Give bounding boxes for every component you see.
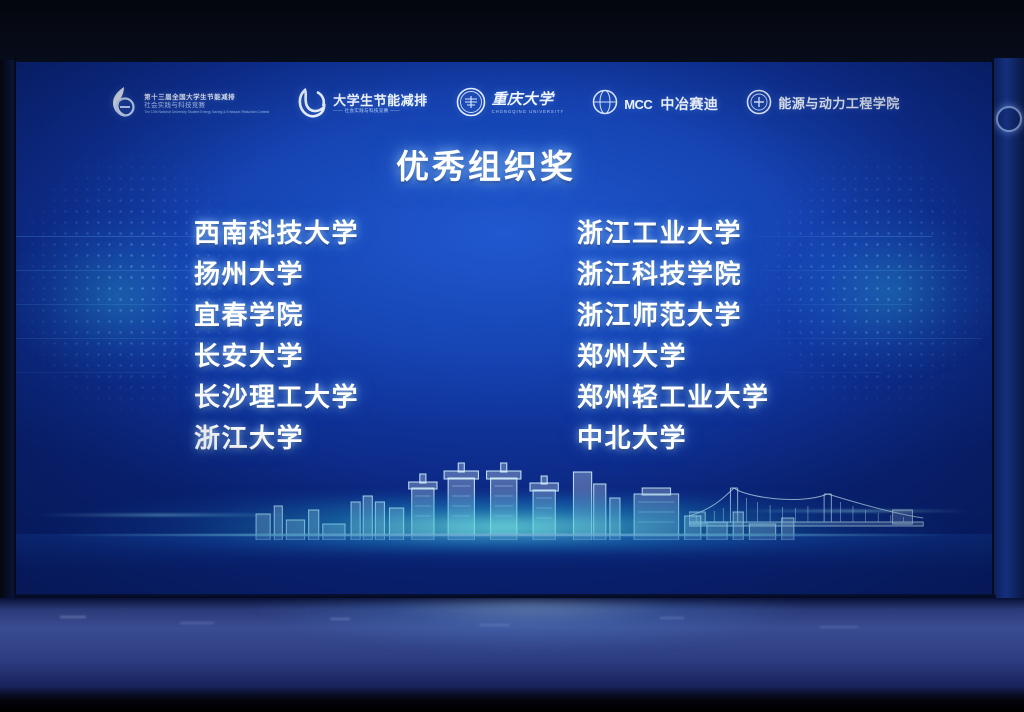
logo-competition-line2: 社会实践与科技竞赛: [144, 102, 269, 110]
award-title: 优秀组织奖: [16, 140, 992, 188]
logo-cisdi-line1: 中冶赛迪: [660, 97, 718, 112]
winners-column-left: 西南科技大学 扬州大学 宜春学院 长安大学 长沙理工大学 浙江大学: [194, 214, 359, 458]
winners-column-right: 浙江工业大学 浙江科技学院 浙江师范大学 郑州大学 郑州轻工业大学 中北大学: [577, 214, 770, 458]
stage-floor: [0, 598, 1024, 712]
winner-item: 郑州轻工业大学: [577, 378, 770, 417]
logo-chongqing-text: 重庆大学 CHONGQING UNIVERSITY: [492, 93, 565, 114]
winner-item: 中北大学: [577, 419, 770, 458]
logo-mcc-cisdi: MCC 中冶赛迪: [592, 84, 718, 124]
winner-item: 郑州大学: [577, 337, 770, 376]
flame-leaf-emblem-icon: [108, 85, 138, 124]
winner-item: 西南科技大学: [194, 214, 359, 253]
suspension-bridge-silhouette-icon: [689, 482, 923, 540]
floor-foreground-shadow: [0, 686, 1024, 712]
light-ray-left: [36, 514, 290, 516]
logo-chongqing-line2: CHONGQING UNIVERSITY: [492, 110, 565, 114]
logo-mcc-abbr: MCC: [624, 97, 652, 112]
logo-energy-power-line1: 能源与动力工程学院: [778, 97, 900, 111]
winner-item: 浙江工业大学: [577, 214, 770, 253]
logo-chongqing-university: 重庆大学 CHONGQING UNIVERSITY: [456, 84, 565, 124]
logo-energy-saving-text: 大学生节能减排 —— 社会实践与科技竞赛 ——: [333, 94, 428, 114]
led-video-wall: 第十三届全国大学生节能减排 社会实践与科技竞赛 The 13th Nationa…: [16, 62, 992, 598]
logo-energy-saving-line2: —— 社会实践与科技竞赛 ——: [333, 109, 428, 114]
winner-item: 浙江科技学院: [577, 255, 770, 294]
wall-light-circle-icon: [996, 106, 1022, 132]
school-seal-icon: [746, 89, 772, 120]
mcc-globe-icon: [592, 89, 618, 120]
swirl-ribbon-icon: [297, 86, 327, 123]
logo-cisdi-text: 中冶赛迪: [660, 97, 718, 112]
logo-competition-line1: 第十三届全国大学生节能减排: [144, 94, 269, 102]
winner-item: 浙江大学: [194, 419, 359, 458]
stage-screen-photo: 第十三届全国大学生节能减排 社会实践与科技竞赛 The 13th Nationa…: [0, 0, 1024, 712]
logo-energy-saving-line1: 大学生节能减排: [333, 94, 428, 108]
light-ray-right: [738, 510, 972, 512]
dark-ceiling-area: [0, 0, 1024, 66]
city-skyline-silhouette-icon: [250, 462, 816, 540]
horizon-light-line: [55, 534, 953, 536]
horizon-glow: [16, 494, 992, 550]
winners-list: 西南科技大学 扬州大学 宜春学院 长安大学 长沙理工大学 浙江大学 浙江工业大学…: [194, 214, 902, 458]
university-seal-icon: [456, 87, 486, 122]
winner-item: 浙江师范大学: [577, 296, 770, 335]
winner-item: 扬州大学: [194, 255, 359, 294]
right-wall-panel: [992, 58, 1024, 624]
logo-energy-power-school: 能源与动力工程学院: [746, 84, 900, 124]
logo-competition-line3: The 13th National University Student Ene…: [144, 110, 269, 115]
logo-energy-power-text: 能源与动力工程学院: [778, 97, 900, 111]
winner-item: 长沙理工大学: [194, 378, 359, 417]
sponsor-logo-bar: 第十三届全国大学生节能减排 社会实践与科技竞赛 The 13th Nationa…: [16, 80, 992, 128]
logo-energy-saving-contest: 大学生节能减排 —— 社会实践与科技竞赛 ——: [297, 84, 428, 124]
logo-competition-text: 第十三届全国大学生节能减排 社会实践与科技竞赛 The 13th Nationa…: [144, 94, 269, 115]
logo-competition-emblem: 第十三届全国大学生节能减排 社会实践与科技竞赛 The 13th Nationa…: [108, 84, 269, 124]
screen-lower-sheen: [16, 534, 992, 598]
winner-item: 宜春学院: [194, 296, 359, 335]
logo-chongqing-line1: 重庆大学: [492, 93, 565, 109]
winner-item: 长安大学: [194, 337, 359, 376]
